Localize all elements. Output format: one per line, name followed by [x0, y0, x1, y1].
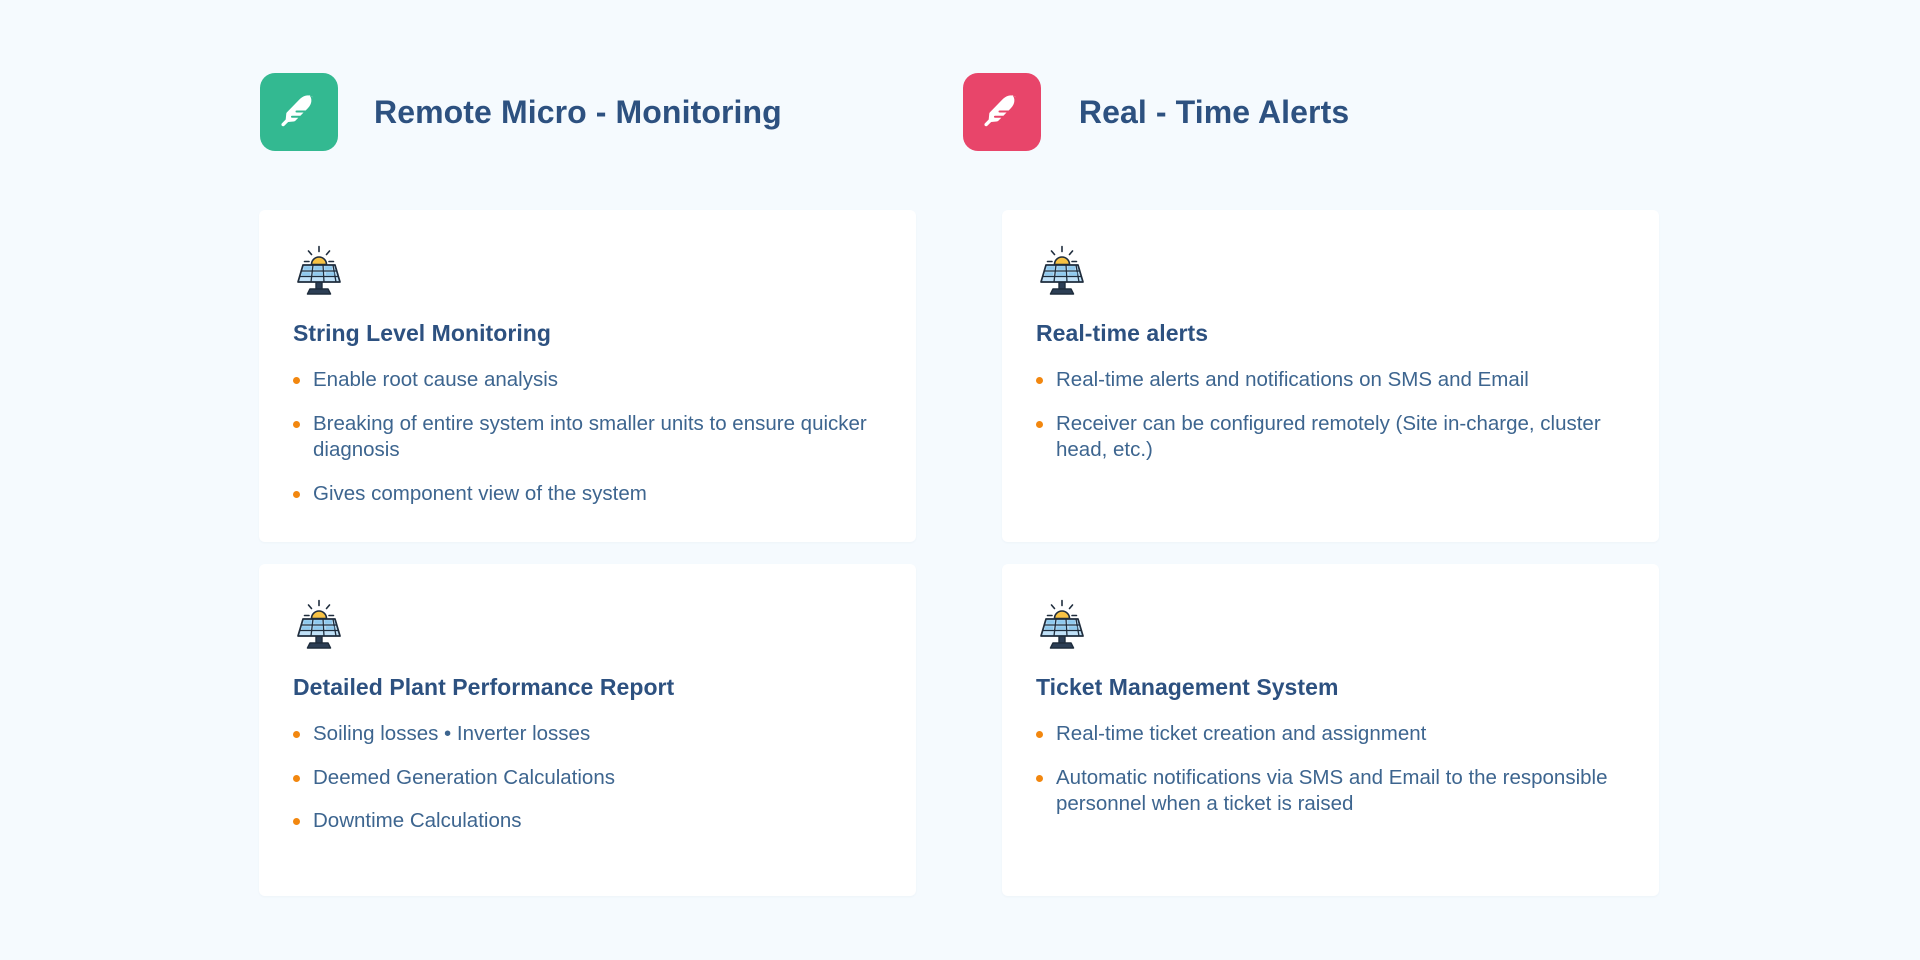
solar-panel-icon — [293, 244, 345, 300]
feature-card[interactable]: Ticket Management System Real-time ticke… — [1002, 564, 1659, 896]
card-bullet-list: Enable root cause analysis Breaking of e… — [293, 367, 878, 508]
solar-panel-icon — [1036, 598, 1088, 654]
feature-card[interactable]: Detailed Plant Performance Report Soilin… — [259, 564, 916, 896]
list-item-text: Real-time alerts and notifications on SM… — [1056, 368, 1529, 391]
list-item-text: Automatic notifications via SMS and Emai… — [1056, 766, 1608, 816]
list-item: Soiling losses • Inverter losses — [293, 721, 878, 748]
card-title: String Level Monitoring — [293, 320, 878, 347]
bullet-dot-icon — [293, 731, 300, 738]
list-item: Downtime Calculations — [293, 808, 878, 835]
feature-overview-page: Remote Micro - Monitoring Real - Time Al… — [0, 0, 1920, 960]
list-item: Real-time ticket creation and assignment — [1036, 721, 1621, 748]
list-item-text: Deemed Generation Calculations — [313, 766, 615, 789]
list-item-text: Downtime Calculations — [313, 809, 522, 832]
list-item: Deemed Generation Calculations — [293, 765, 878, 792]
bullet-dot-icon — [293, 421, 300, 428]
solar-panel-icon — [293, 598, 345, 654]
column-headers: Remote Micro - Monitoring Real - Time Al… — [260, 66, 1660, 158]
card-bullet-list: Real-time alerts and notifications on SM… — [1036, 367, 1621, 464]
column-title: Remote Micro - Monitoring — [374, 94, 782, 131]
feature-card[interactable]: Real-time alerts Real-time alerts and no… — [1002, 210, 1659, 542]
list-item-text: Real-time ticket creation and assignment — [1056, 722, 1426, 745]
column-title: Real - Time Alerts — [1079, 94, 1349, 131]
list-item-text: Enable root cause analysis — [313, 368, 558, 391]
card-title: Real-time alerts — [1036, 320, 1621, 347]
list-item: Real-time alerts and notifications on SM… — [1036, 367, 1621, 394]
list-item: Breaking of entire system into smaller u… — [293, 411, 878, 464]
bullet-dot-icon — [293, 491, 300, 498]
card-bullet-list: Soiling losses • Inverter losses Deemed … — [293, 721, 878, 835]
list-item-text: Gives component view of the system — [313, 482, 647, 505]
bullet-dot-icon — [293, 377, 300, 384]
bullet-dot-icon — [1036, 775, 1043, 782]
feature-card-grid: String Level Monitoring Enable root caus… — [259, 210, 1659, 896]
list-item: Receiver can be configured remotely (Sit… — [1036, 411, 1621, 464]
card-title: Ticket Management System — [1036, 674, 1621, 701]
card-title: Detailed Plant Performance Report — [293, 674, 878, 701]
bullet-dot-icon — [1036, 421, 1043, 428]
feature-card[interactable]: String Level Monitoring Enable root caus… — [259, 210, 916, 542]
bullet-dot-icon — [293, 775, 300, 782]
list-item-text: Soiling losses • Inverter losses — [313, 722, 590, 745]
bullet-dot-icon — [1036, 377, 1043, 384]
list-item: Automatic notifications via SMS and Emai… — [1036, 765, 1621, 818]
card-bullet-list: Real-time ticket creation and assignment… — [1036, 721, 1621, 818]
list-item-text: Receiver can be configured remotely (Sit… — [1056, 412, 1601, 462]
feather-icon-badge-pink — [963, 73, 1041, 151]
column-header-remote-micro-monitoring: Remote Micro - Monitoring — [260, 66, 960, 158]
column-header-real-time-alerts: Real - Time Alerts — [960, 66, 1660, 158]
list-item: Gives component view of the system — [293, 481, 878, 508]
list-item-text: Breaking of entire system into smaller u… — [313, 412, 867, 462]
bullet-dot-icon — [293, 818, 300, 825]
feather-icon — [981, 91, 1023, 133]
feather-icon — [278, 91, 320, 133]
list-item: Enable root cause analysis — [293, 367, 878, 394]
solar-panel-icon — [1036, 244, 1088, 300]
feather-icon-badge-teal — [260, 73, 338, 151]
bullet-dot-icon — [1036, 731, 1043, 738]
